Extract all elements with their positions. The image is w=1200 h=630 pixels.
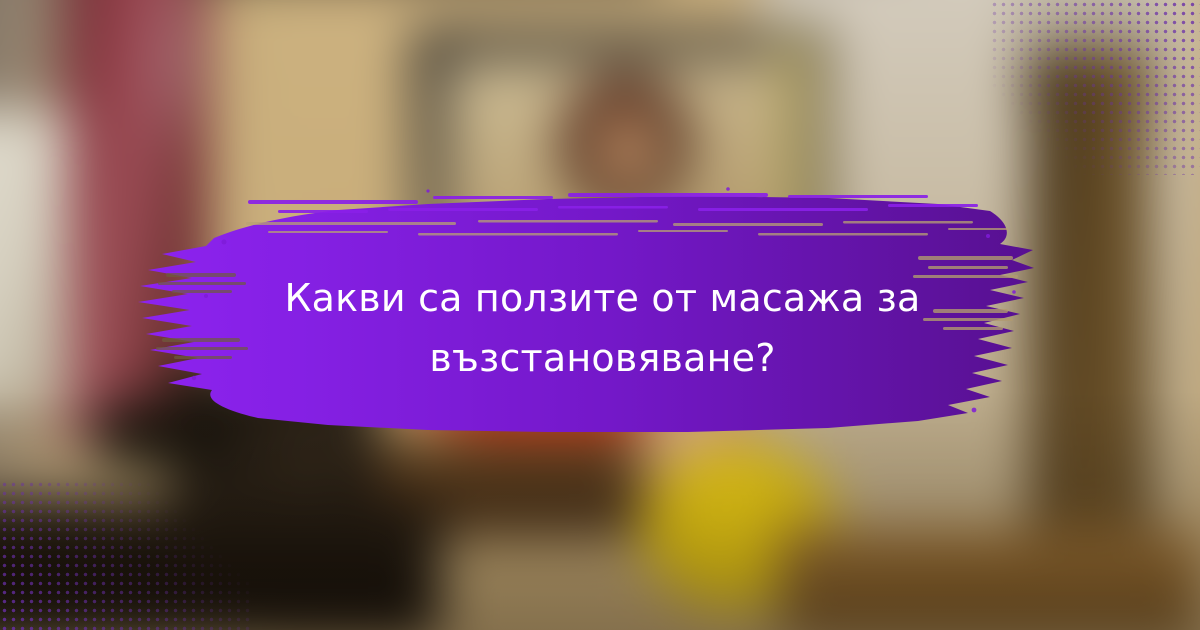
share-card: Какви са ползите от масажа за възстановя… [0, 0, 1200, 630]
halftone-dots-bottom-left [0, 480, 250, 630]
halftone-dots-top-right [990, 0, 1200, 175]
headline-text: Какви са ползите от масажа за възстановя… [180, 268, 1025, 388]
